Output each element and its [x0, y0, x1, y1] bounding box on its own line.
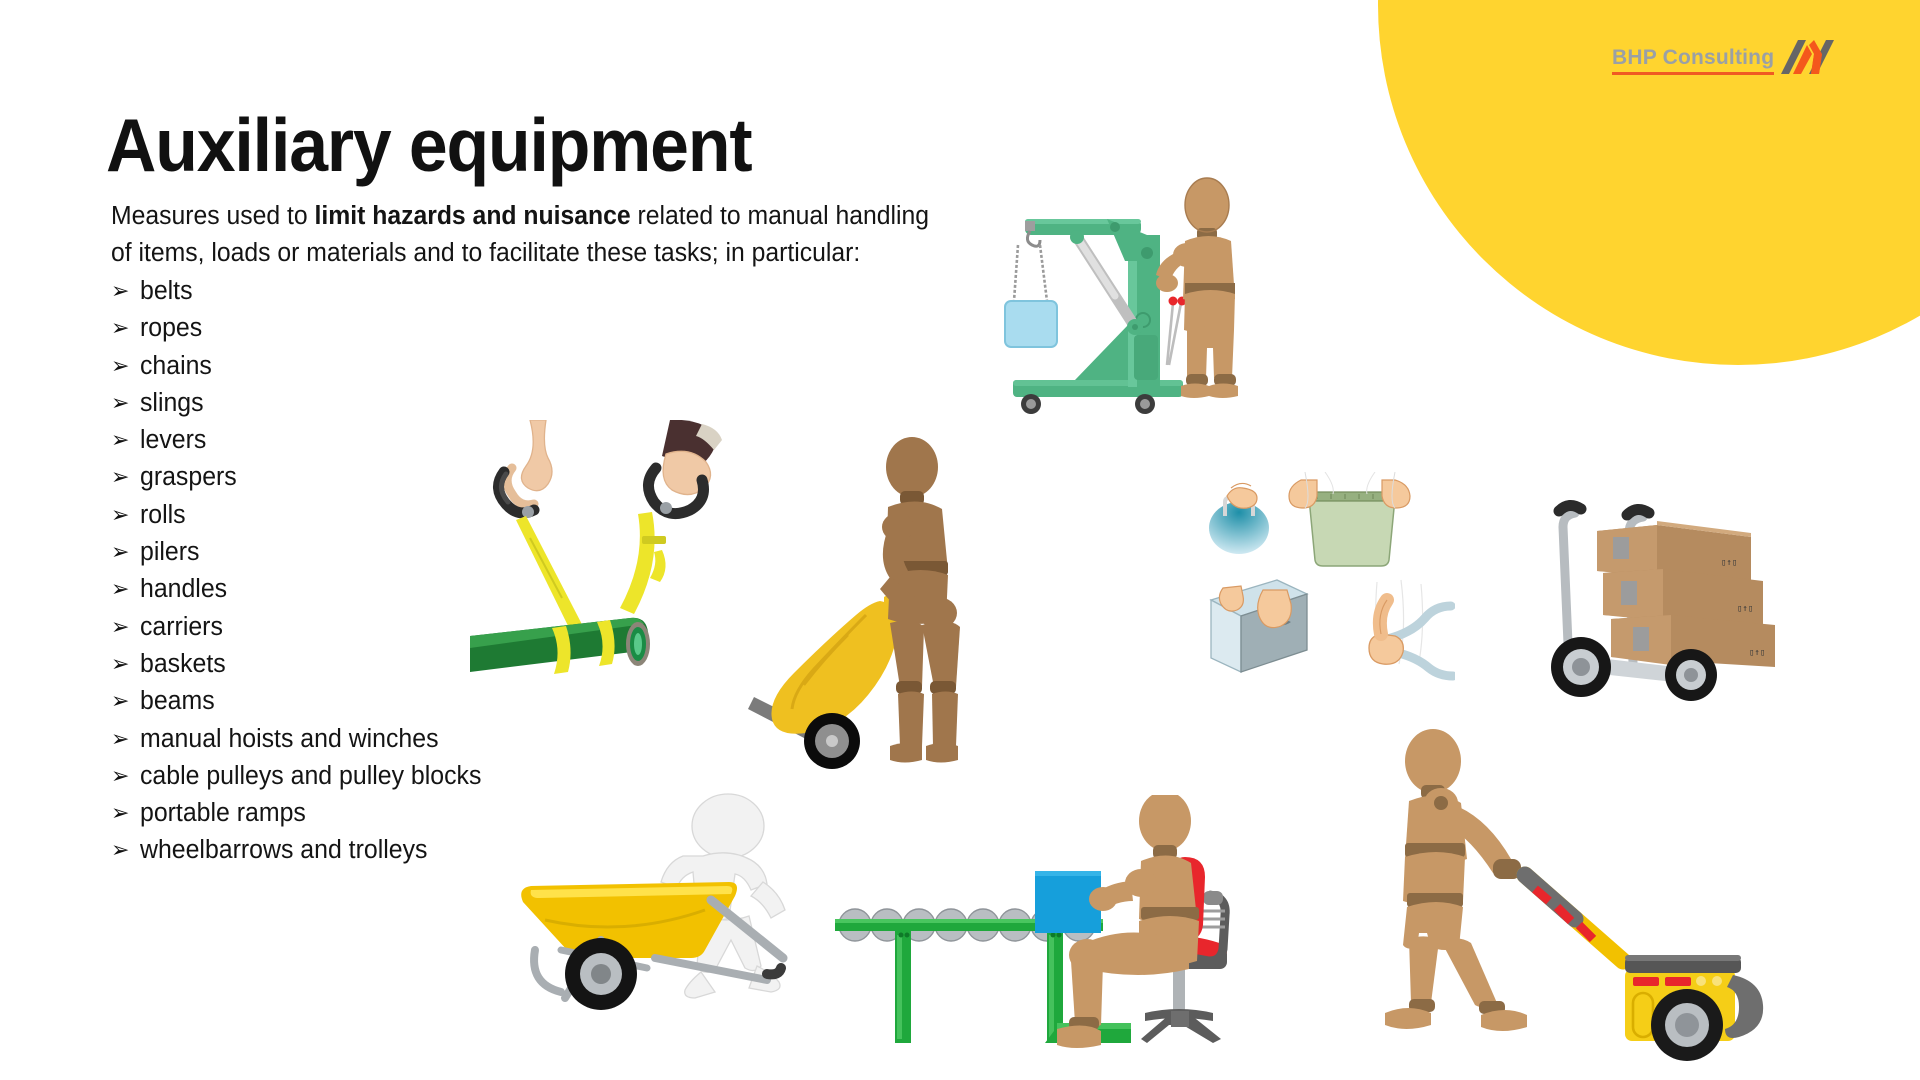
bullet-arrow-icon: ➢	[111, 384, 140, 421]
bullet-arrow-icon: ➢	[111, 421, 140, 458]
workshop-crane-illustration	[995, 175, 1245, 430]
svg-text:▯↑▯: ▯↑▯	[1721, 558, 1737, 568]
list-item-label: rolls	[140, 497, 186, 534]
list-item-label: carriers	[140, 609, 223, 646]
bullet-arrow-icon: ➢	[111, 645, 140, 682]
bullet-arrow-icon: ➢	[111, 496, 140, 533]
brand-logo: BHP Consulting	[1612, 40, 1835, 75]
list-item-label: graspers	[140, 459, 237, 496]
svg-text:▯↑▯: ▯↑▯	[1737, 604, 1753, 614]
list-item-label: manual hoists and winches	[140, 721, 439, 758]
list-item-label: belts	[140, 273, 193, 310]
bullet-arrow-icon: ➢	[111, 757, 140, 794]
bullet-arrow-icon: ➢	[111, 831, 140, 868]
bullet-arrow-icon: ➢	[111, 794, 140, 831]
bullet-arrow-icon: ➢	[111, 720, 140, 757]
logo-text: BHP Consulting	[1612, 47, 1774, 69]
list-item: ➢ropes	[111, 310, 971, 347]
list-item-label: chains	[140, 348, 212, 385]
bullet-arrow-icon: ➢	[111, 309, 140, 346]
wheelbarrow-illustration	[505, 790, 805, 1020]
logo-text-wrap: BHP Consulting	[1612, 47, 1774, 75]
intro-lead: Measures used to	[111, 202, 314, 230]
list-item-label: portable ramps	[140, 795, 306, 832]
list-item-label: slings	[140, 385, 204, 422]
list-item: ➢slings	[111, 385, 971, 422]
list-item-label: wheelbarrows and trolleys	[140, 832, 427, 869]
bullet-arrow-icon: ➢	[111, 608, 140, 645]
list-item-label: cable pulleys and pulley blocks	[140, 758, 481, 795]
intro-emphasis: limit hazards and nuisance	[314, 202, 630, 230]
bullet-arrow-icon: ➢	[111, 533, 140, 570]
loaded-sack-truck-photo: ▯↑▯ ▯↑▯ ▯↑▯	[1545, 485, 1825, 710]
bullet-arrow-icon: ➢	[111, 272, 140, 309]
handle-grips-diagram	[1205, 472, 1455, 682]
bullet-arrow-icon: ➢	[111, 682, 140, 719]
pipe-lifting-strap-photo	[470, 420, 730, 675]
list-item: ➢chains	[111, 348, 971, 385]
svg-text:▯↑▯: ▯↑▯	[1749, 648, 1765, 658]
slide-canvas: BHP Consulting Auxiliary equipment Measu…	[0, 0, 1920, 1080]
list-item: ➢belts	[111, 273, 971, 310]
list-item-label: handles	[140, 571, 227, 608]
bullet-arrow-icon: ➢	[111, 347, 140, 384]
list-item-label: beams	[140, 683, 215, 720]
page-title: Auxiliary equipment	[106, 108, 751, 183]
list-item-label: ropes	[140, 310, 202, 347]
list-item-label: levers	[140, 422, 206, 459]
powered-pallet-truck	[1375, 725, 1785, 1070]
logo-chevron-icon	[1781, 40, 1835, 74]
list-item-label: pilers	[140, 534, 199, 571]
bullet-arrow-icon: ➢	[111, 570, 140, 607]
logo-underline	[1612, 72, 1774, 75]
intro-paragraph: Measures used to limit hazards and nuisa…	[111, 198, 945, 272]
bullet-arrow-icon: ➢	[111, 458, 140, 495]
list-item-label: baskets	[140, 646, 226, 683]
hand-truck-sack-illustration	[740, 435, 1000, 785]
roller-conveyor-workstation	[835, 795, 1255, 1060]
